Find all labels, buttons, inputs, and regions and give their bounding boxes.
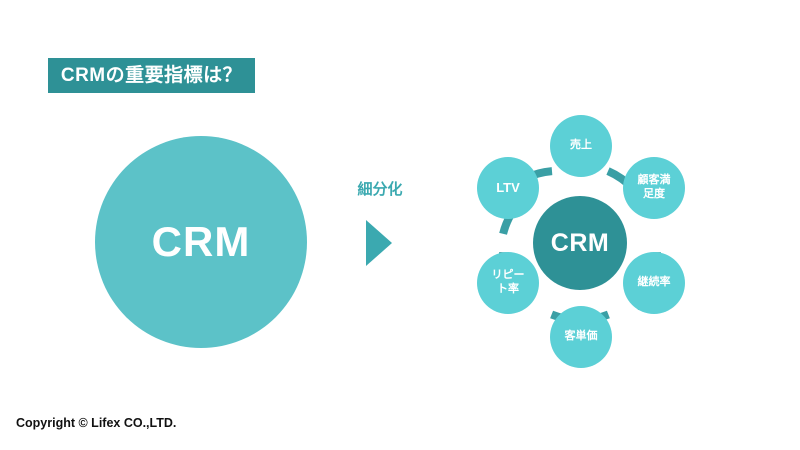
metric-node-label: 客単価 (565, 330, 598, 344)
metric-node-label: 継続率 (638, 276, 671, 290)
metric-node-label: LTV (496, 180, 520, 196)
cycle-center-label: CRM (551, 231, 609, 256)
metric-node-retention-rate[interactable]: 継続率 (623, 252, 685, 314)
metric-node-customer-satisfaction[interactable]: 顧客満 足度 (623, 157, 685, 219)
copyright-text: Copyright © Lifex CO.,LTD. (16, 416, 176, 430)
metric-node-sales[interactable]: 売上 (550, 115, 612, 177)
page-title: CRMの重要指標は？ (61, 66, 242, 85)
metric-node-label: 売上 (570, 139, 592, 153)
crm-concept-circle: CRM (95, 136, 307, 348)
cycle-center-circle: CRM (533, 196, 627, 290)
crm-concept-label: CRM (152, 221, 251, 263)
footer: Copyright © Lifex CO.,LTD. (16, 414, 176, 432)
page-title-banner: CRMの重要指標は？ (48, 58, 255, 93)
metric-node-label: リピー ト率 (492, 269, 525, 297)
slide-canvas: CRMの重要指標は？ CRM 細分化 CRM 売上 (0, 0, 800, 450)
crm-metrics-cycle-diagram: CRM 売上 顧客満 足度 継続率 客単価 リピー ト率 LTV (455, 108, 705, 378)
metric-node-label: 顧客満 足度 (638, 174, 671, 202)
metric-node-ltv[interactable]: LTV (477, 157, 539, 219)
metric-node-average-order-value[interactable]: 客単価 (550, 306, 612, 368)
transition-group: 細分化 (340, 182, 420, 272)
triangle-right-icon (366, 220, 392, 266)
transition-caption: 細分化 (340, 182, 420, 197)
metric-node-repeat-rate[interactable]: リピー ト率 (477, 252, 539, 314)
